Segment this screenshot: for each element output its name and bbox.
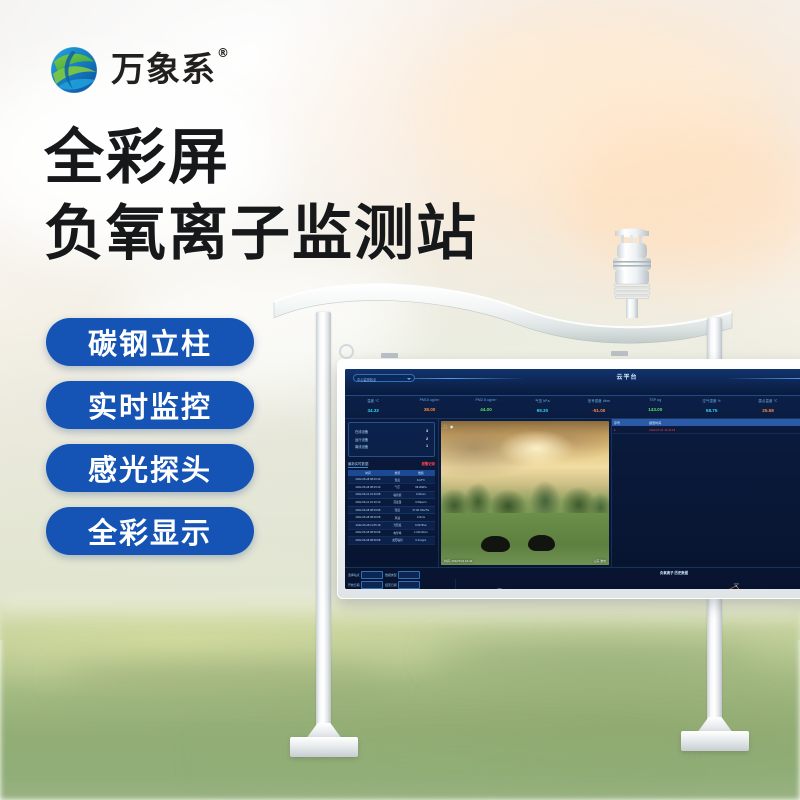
treeline — [441, 481, 609, 516]
dashboard-body: 在线设备 3 运行设备 2 离线设备 1 — [345, 419, 800, 567]
metric-label: PM2.5 ug/m³ — [458, 398, 514, 402]
cell-type: 电导率 — [388, 529, 407, 537]
column-header-type: 类型 — [388, 470, 407, 477]
alarm-time: 2022-07-21 16:42:18 — [649, 428, 749, 432]
metric-value: 99.30 — [514, 408, 570, 413]
feature-badge-1: 实时监控 — [46, 381, 254, 429]
filter-label: 选择站点 — [348, 573, 360, 577]
cell-value: 37.00 Obs/TIL — [407, 506, 435, 514]
cell-time: 2022-06-28 08:03:19 — [348, 483, 388, 491]
camera-toolbar[interactable]: ⛶ ◉ — [444, 424, 453, 429]
cell-value: 1.00mS/cm — [407, 529, 435, 537]
table-row[interactable]: 2022-06-28 11:05:18 光照度 0.0076lux — [348, 521, 435, 529]
cell-value: 34.8℃ — [407, 476, 435, 483]
device-stats-box: 在线设备 3 运行设备 2 离线设备 1 — [348, 422, 435, 457]
dashboard-header: 云平台 中心监测站点 2022/07/21 16:42:18 退出 — [345, 369, 800, 396]
alarm-row[interactable]: 1 2022-07-21 16:42:18 空气湿度超标 / 请及时处理并确认 — [612, 426, 800, 434]
table-row[interactable]: 2022-06-28 08:00:08 风速 0.0m/s — [348, 514, 435, 522]
metric-label: 露点温度 ℃ — [740, 398, 796, 403]
metric-value: 44.00 — [458, 407, 514, 412]
svg-text:1150: 1150 — [733, 584, 740, 586]
feature-badge-list: 碳钢立柱 实时监控 感光探头 全彩显示 — [46, 318, 254, 555]
horizon-haze — [0, 596, 800, 622]
display-bezel: 云平台 中心监测站点 2022/07/21 16:42:18 退出 — [337, 359, 800, 599]
ultrasonic-weather-sensor-icon — [600, 222, 664, 318]
cell-type: 蒸发量 — [388, 499, 407, 507]
chart-filter-1[interactable]: 数据类型 — [385, 571, 420, 579]
mount-tab — [381, 353, 398, 358]
promo-image-stage: 万象系 ® 全彩屏 负氧离子监测站 碳钢立柱 实时监控 感光探头 全彩显示 — [0, 0, 800, 800]
table-row[interactable]: 2022-06-08 08:00:08 电导率 1.00mS/cm — [348, 529, 435, 537]
metric-label: PM10 ug/m³ — [401, 398, 457, 402]
filter-select[interactable] — [361, 571, 383, 579]
snapshot-icon[interactable]: ◉ — [450, 424, 454, 429]
table-row[interactable]: 2022-06-28 08:03:19 温度 34.8℃ — [348, 476, 435, 483]
camera-panel[interactable]: ⛶ ◉ 时间: 2022/7/21 16:42 山东 潍坊 — [439, 419, 611, 567]
filter-label: 数据类型 — [385, 573, 397, 577]
led-screen: 云平台 中心监测站点 2022/07/21 16:42:18 退出 — [345, 369, 800, 589]
cell-type: 光照度 — [388, 521, 407, 529]
cell-type: 噪音值 — [388, 491, 407, 499]
filter-label: 开始日期 — [348, 583, 360, 587]
filter-select[interactable] — [398, 581, 420, 589]
metric-value: 25.58 — [740, 408, 796, 413]
cell-time: 2022-06-28 08:03:08 — [348, 506, 388, 514]
filter-select[interactable] — [361, 581, 383, 589]
headline-line-2: 负氧离子监测站 — [44, 204, 478, 264]
table-row[interactable]: 2022-06-21 16:10:10 蒸发量 0.00μs/m — [348, 499, 435, 507]
table-head-row: 时间 类型 数值 — [348, 470, 435, 477]
cattle — [528, 535, 555, 551]
metric-4: 信号强度 dbm -51.00 — [571, 396, 627, 418]
metric-8: 噪声 db 48.00 — [796, 396, 800, 418]
table-row[interactable]: 2022-06-21 16:40:08 噪音值 0.00mm — [348, 491, 435, 499]
stat-value: 3 — [426, 429, 428, 434]
feature-badge-0: 碳钢立柱 — [46, 318, 254, 366]
mount-tab — [611, 351, 628, 356]
metric-2: PM2.5 ug/m³ 44.00 — [458, 396, 514, 418]
stat-label: 在线设备 — [355, 429, 368, 434]
globe-swirl-logo-icon — [46, 42, 102, 98]
chart-filter-bar: 选择站点 数据类型 开始日期 — [345, 568, 439, 589]
cell-type: 温度 — [388, 476, 407, 483]
chart-title: 负氧离子 历史数据 — [443, 570, 800, 575]
metric-6: 空气湿度 % 58.75 — [683, 396, 739, 418]
cell-value: 0.00μs/m — [407, 499, 435, 507]
stat-label: 离线设备 — [355, 444, 368, 449]
base-plate-right — [681, 731, 749, 751]
metric-label: 信号强度 dbm — [571, 398, 627, 403]
cell-type: 气压 — [388, 483, 407, 491]
realtime-data-table: 时间 类型 数值 2022-06-28 08:03:19 温度 — [348, 470, 435, 545]
chart-filter-2[interactable]: 开始日期 — [348, 581, 383, 589]
feature-badge-3: 全彩显示 — [46, 507, 254, 555]
grass-texture — [60, 660, 390, 694]
cell-value: 0.0m/s — [407, 514, 435, 522]
grass-texture — [200, 740, 680, 780]
metric-5: TSP ug 143.00 — [627, 396, 683, 418]
table-row[interactable]: 2022-06-28 08:03:19 气压 99.30kPa — [348, 483, 435, 491]
metric-3: 气压 kPa 99.30 — [514, 396, 570, 418]
cell-time: 2022-06-21 16:10:10 — [348, 499, 388, 507]
metric-value: -51.00 — [571, 408, 627, 413]
metric-7: 露点温度 ℃ 25.58 — [740, 396, 796, 418]
wave-canopy — [268, 276, 738, 346]
camera-location-tag: 山东 潍坊 — [594, 559, 606, 563]
metric-value: 38.00 — [401, 407, 457, 412]
chart-filter-3[interactable]: 结束日期 — [385, 581, 420, 589]
cell-type: 风速 — [388, 514, 407, 522]
cell-value: 0.4mcg/L — [407, 537, 435, 545]
chart-plot: 1205408809001501701901751801651854002101… — [443, 576, 800, 589]
metric-value: 48.00 — [796, 408, 800, 413]
mount-hook-left — [339, 344, 354, 359]
metric-label: 气压 kPa — [514, 398, 570, 403]
metric-1: PM10 ug/m³ 38.00 — [401, 396, 457, 418]
metric-label: 噪声 db — [796, 398, 800, 403]
headline-line-1: 全彩屏 — [44, 128, 230, 188]
cell-type: 太阳辐射 — [388, 537, 407, 545]
camera-timestamp: 时间: 2022/7/21 16:42 — [444, 559, 472, 563]
stat-row-2: 离线设备 1 — [355, 444, 428, 449]
registered-mark: ® — [217, 47, 230, 59]
alarm-col-content: 报警内容 — [749, 421, 800, 425]
cell-time: 2022-06-08 08:00:08 — [348, 537, 388, 545]
cell-time: 2022-06-21 16:40:08 — [348, 491, 388, 499]
table-row[interactable]: 2022-06-28 08:03:08 湿度 37.00 Obs/TIL — [348, 506, 435, 514]
metric-label: 空气湿度 % — [683, 398, 739, 403]
cell-time: 2022-06-28 11:05:18 — [348, 521, 388, 529]
cell-time: 2022-06-08 08:00:08 — [348, 529, 388, 537]
alarm-link[interactable]: 报警记录 — [421, 461, 435, 468]
brand-name: 万象系 ® — [111, 53, 216, 87]
cell-value: 0.00mm — [407, 491, 435, 499]
chart-filter-0[interactable]: 选择站点 — [348, 571, 383, 579]
cell-time: 2022-06-28 08:03:19 — [348, 476, 388, 483]
table-body: 2022-06-28 08:03:19 温度 34.8℃ 2022-06-28 … — [348, 476, 435, 544]
station-select-value: 中心监测站点 — [357, 378, 376, 382]
metric-label: TSP ug — [627, 398, 683, 402]
pasture — [441, 513, 609, 565]
stat-row-0: 在线设备 3 — [355, 429, 428, 434]
stat-row-1: 运行设备 2 — [355, 437, 428, 442]
metric-strip: 温度 ℃ 34.32 PM10 ug/m³ 38.00 PM2.5 ug/m³ … — [345, 396, 800, 419]
brand-name-text: 万象系 — [111, 50, 216, 90]
post-left — [316, 312, 331, 744]
feature-badge-2: 感光探头 — [46, 444, 254, 492]
left-panel: 在线设备 3 运行设备 2 离线设备 1 — [345, 419, 439, 567]
metric-value: 143.00 — [627, 407, 683, 412]
chart-section: 选择站点 数据类型 开始日期 — [345, 567, 800, 589]
alarm-index: 1 — [614, 428, 649, 432]
stat-label: 运行设备 — [355, 437, 368, 442]
alarm-table-header: 序号 报警时间 报警内容 — [612, 419, 800, 426]
chevron-down-icon — [407, 378, 411, 380]
history-chart: 负氧离子 历史数据 最大值 平均值 1205408809001501701901… — [439, 568, 800, 589]
metric-0: 温度 ℃ 34.32 — [345, 396, 401, 418]
column-header-value: 数值 — [407, 470, 435, 477]
filter-label: 结束日期 — [385, 583, 397, 587]
brand-logo: 万象系 ® — [46, 42, 216, 98]
base-plate-left — [290, 737, 358, 757]
metric-label: 温度 ℃ — [345, 398, 401, 403]
sun-glow — [498, 430, 575, 467]
stat-value: 2 — [426, 437, 428, 442]
station-select[interactable]: 中心监测站点 — [353, 374, 415, 382]
stat-value: 1 — [426, 444, 428, 449]
cattle — [481, 536, 510, 552]
dashboard: 云平台 中心监测站点 2022/07/21 16:42:18 退出 — [345, 369, 800, 589]
metric-value: 34.32 — [345, 408, 401, 413]
alarm-col-index: 序号 — [614, 421, 649, 425]
column-header-time: 时间 — [348, 470, 388, 477]
cell-type: 湿度 — [388, 506, 407, 514]
cell-value: 99.30kPa — [407, 483, 435, 491]
table-header-bar: 最新实时数据 报警记录 — [348, 461, 435, 468]
cell-time: 2022-06-28 08:00:08 — [348, 514, 388, 522]
metric-value: 58.75 — [683, 408, 739, 413]
camera-feed[interactable]: ⛶ ◉ 时间: 2022/7/21 16:42 山东 潍坊 — [441, 421, 609, 565]
table-row[interactable]: 2022-06-08 08:00:08 太阳辐射 0.4mcg/L — [348, 537, 435, 545]
fullscreen-icon[interactable]: ⛶ — [444, 424, 447, 429]
alarm-col-time: 报警时间 — [649, 421, 749, 425]
filter-select[interactable] — [398, 571, 420, 579]
alarm-panel: 序号 报警时间 报警内容 1 2022-07-21 16:42:18 空气湿度超… — [611, 419, 800, 567]
cell-value: 0.0076lux — [407, 521, 435, 529]
realtime-table-title: 最新实时数据 — [348, 461, 368, 468]
alarm-content: 空气湿度超标 / 请及时处理并确认 — [749, 428, 800, 432]
